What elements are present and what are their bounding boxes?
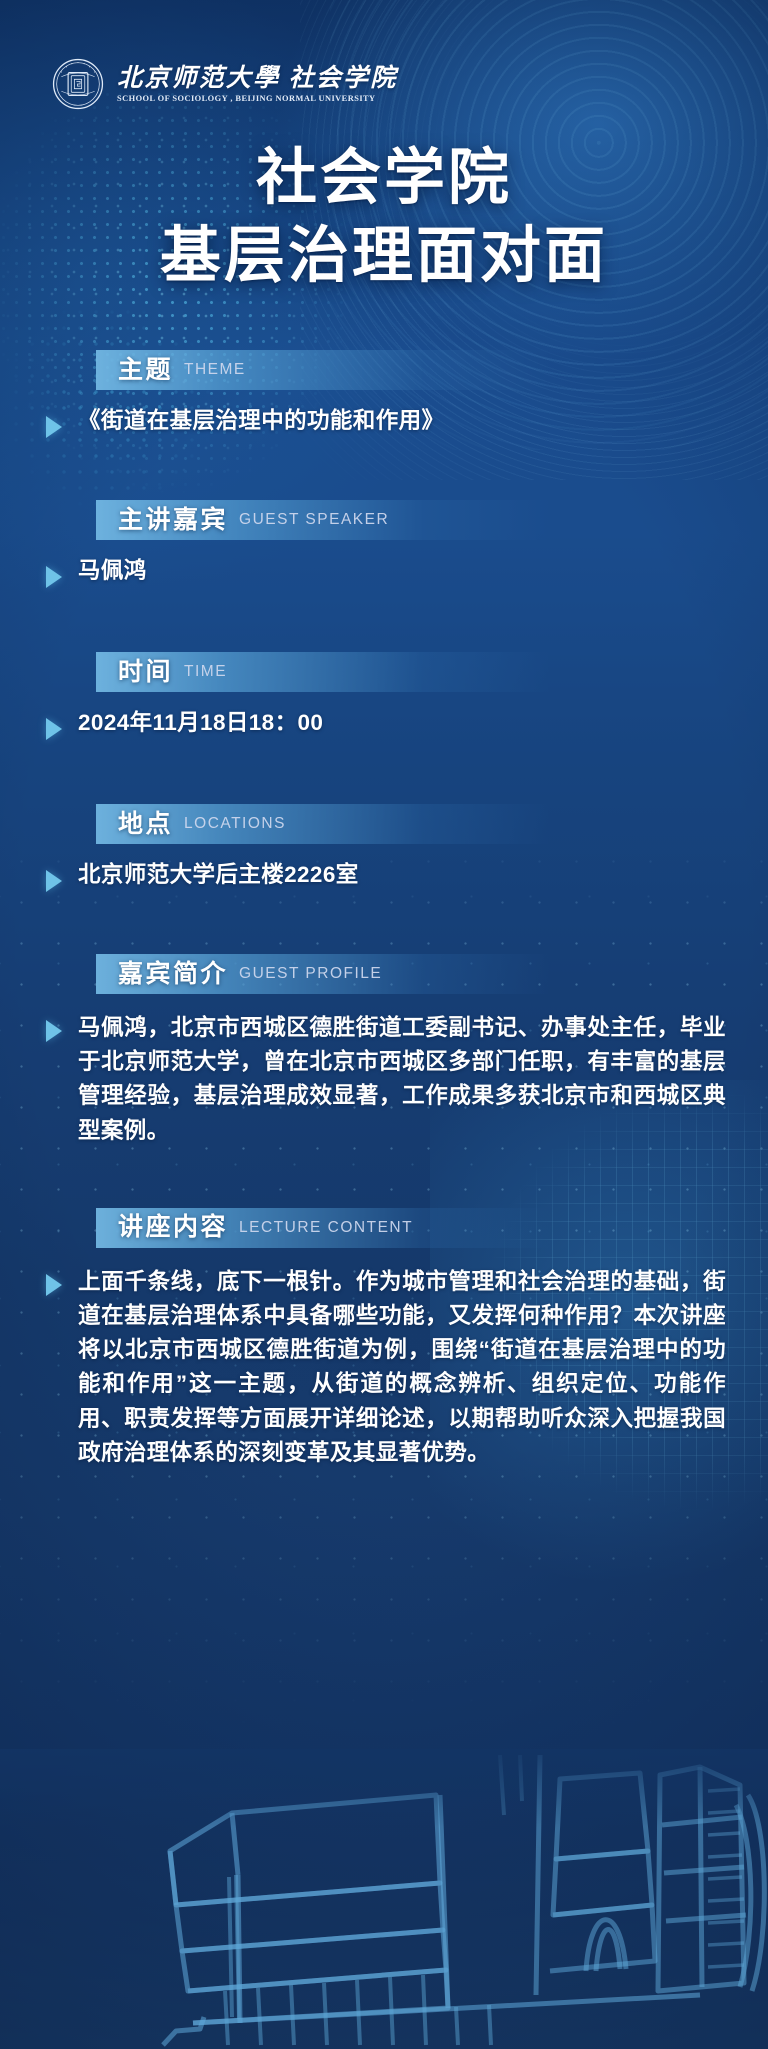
section-label-en: GUEST PROFILE	[239, 965, 382, 983]
triangle-right-icon	[46, 416, 62, 438]
triangle-right-icon	[46, 870, 62, 892]
brand-text: 北京师范大學 社会学院 SCHOOL OF SOCIOLOGY , BEIJIN…	[117, 66, 397, 103]
section-body-time: 2024年11月18日18：00	[46, 709, 768, 740]
section-spacer	[0, 588, 768, 652]
section-label-en: THEME	[184, 361, 246, 379]
poster-canvas: 北京师范大學 社会学院 SCHOOL OF SOCIOLOGY , BEIJIN…	[0, 0, 768, 2049]
section-spacer	[0, 740, 768, 804]
section-header-lecture-content: 讲座内容 LECTURE CONTENT	[96, 1208, 550, 1248]
section-label-en: TIME	[184, 663, 227, 681]
section-body-lecture-content: 上面千条线，底下一根针。作为城市管理和社会治理的基础，街道在基层治理体系中具备哪…	[46, 1265, 768, 1470]
brand-logo: 北京师范大學 社会学院 SCHOOL OF SOCIOLOGY , BEIJIN…	[52, 58, 397, 110]
section-label-cn: 嘉宾简介	[118, 962, 228, 987]
poster-title: 社会学院 基层治理面对面	[0, 142, 768, 291]
section-body-guest-profile: 马佩鸿，北京市西城区德胜街道工委副书记、办事处主任，毕业于北京师范大学，曾在北京…	[46, 1011, 768, 1148]
section-text: 上面千条线，底下一根针。作为城市管理和社会治理的基础，街道在基层治理体系中具备哪…	[78, 1265, 726, 1470]
title-line-2: 基层治理面对面	[0, 220, 768, 291]
brand-name-en: SCHOOL OF SOCIOLOGY , BEIJING NORMAL UNI…	[117, 94, 397, 103]
section-label-cn: 时间	[118, 660, 173, 685]
triangle-right-icon	[46, 718, 62, 740]
section-label-cn: 主题	[118, 358, 173, 383]
section-label-cn: 讲座内容	[118, 1215, 228, 1240]
title-line-1: 社会学院	[0, 142, 768, 213]
section-header-guest-profile: 嘉宾简介 GUEST PROFILE	[96, 954, 550, 994]
section-header-locations: 地点 LOCATIONS	[96, 804, 550, 844]
section-list: 主题 THEME 《街道在基层治理中的功能和作用》 主讲嘉宾 GUEST SPE…	[0, 350, 768, 1470]
section-locations: 地点 LOCATIONS 北京师范大学后主楼2226室	[0, 804, 768, 954]
section-label-cn: 主讲嘉宾	[118, 508, 228, 533]
triangle-right-icon	[46, 566, 62, 588]
section-header-time: 时间 TIME	[96, 652, 550, 692]
triangle-right-icon	[46, 1274, 62, 1296]
section-body-theme: 《街道在基层治理中的功能和作用》	[46, 407, 768, 438]
section-header-theme: 主题 THEME	[96, 350, 550, 390]
section-text: 2024年11月18日18：00	[78, 709, 323, 737]
section-label-en: GUEST SPEAKER	[239, 511, 389, 529]
section-text: 《街道在基层治理中的功能和作用》	[78, 407, 444, 435]
section-label-en: LOCATIONS	[184, 815, 286, 833]
section-label-cn: 地点	[118, 812, 173, 837]
section-guest-speaker: 主讲嘉宾 GUEST SPEAKER 马佩鸿	[0, 500, 768, 652]
triangle-right-icon	[46, 1020, 62, 1042]
section-text: 北京师范大学后主楼2226室	[78, 861, 359, 889]
section-guest-profile: 嘉宾简介 GUEST PROFILE 马佩鸿，北京市西城区德胜街道工委副书记、办…	[0, 954, 768, 1208]
section-lecture-content: 讲座内容 LECTURE CONTENT 上面千条线，底下一根针。作为城市管理和…	[0, 1208, 768, 1470]
section-spacer	[0, 1148, 768, 1208]
section-body-guest-speaker: 马佩鸿	[46, 557, 768, 588]
brand-name-cn: 北京师范大學 社会学院	[117, 66, 397, 92]
section-label-en: LECTURE CONTENT	[239, 1219, 413, 1237]
section-theme: 主题 THEME 《街道在基层治理中的功能和作用》	[0, 350, 768, 500]
section-body-locations: 北京师范大学后主楼2226室	[46, 861, 768, 892]
university-seal-icon	[52, 58, 104, 110]
section-spacer	[0, 892, 768, 954]
section-text: 马佩鸿，北京市西城区德胜街道工委副书记、办事处主任，毕业于北京师范大学，曾在北京…	[78, 1011, 726, 1148]
section-spacer	[0, 438, 768, 500]
section-time: 时间 TIME 2024年11月18日18：00	[0, 652, 768, 804]
bottom-building-art	[0, 1749, 768, 2049]
section-header-guest-speaker: 主讲嘉宾 GUEST SPEAKER	[96, 500, 550, 540]
section-text: 马佩鸿	[78, 557, 147, 585]
